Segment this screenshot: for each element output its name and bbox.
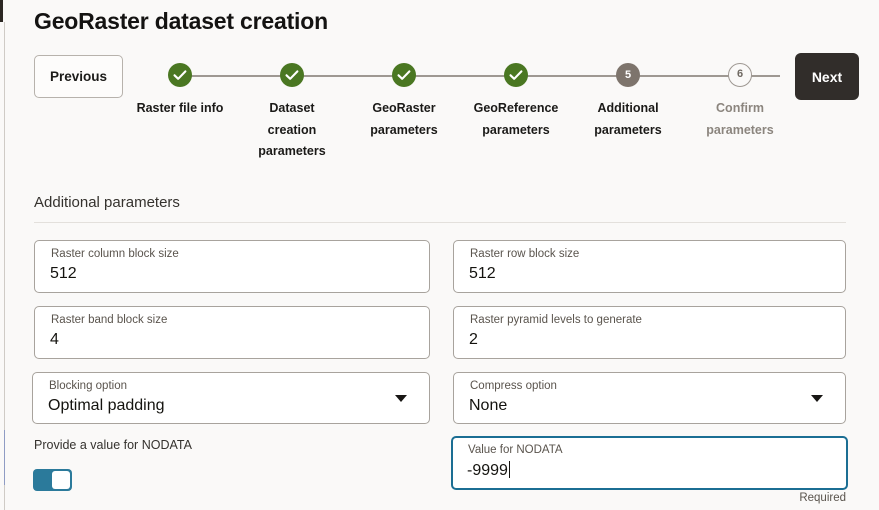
window-edge-left-accent [4, 430, 5, 485]
step-5-status-icon: 5 [616, 63, 640, 87]
step-6-status-icon: 6 [728, 63, 752, 87]
step-5-label: Additional parameters [572, 98, 684, 141]
raster-band-block-size-value: 4 [50, 331, 59, 349]
nodata-value-input[interactable]: -9999 [467, 461, 510, 480]
nodata-value-field[interactable]: Value for NODATA -9999 [451, 436, 848, 490]
raster-pyramid-levels-field[interactable]: Raster pyramid levels to generate 2 [453, 306, 846, 359]
chevron-down-icon[interactable] [395, 395, 407, 402]
compress-option-value: None [469, 397, 507, 415]
previous-button[interactable]: Previous [34, 55, 123, 98]
next-button[interactable]: Next [795, 53, 859, 100]
step-4-georeference-parameters[interactable]: GeoReference parameters [460, 60, 572, 141]
provide-nodata-toggle[interactable] [33, 469, 72, 491]
nodata-value-text: -9999 [467, 462, 508, 479]
raster-row-block-size-value: 512 [469, 265, 496, 283]
step-1-label: Raster file info [124, 98, 236, 120]
compress-option-select[interactable]: Compress option None [453, 372, 846, 424]
window-edge-top [0, 0, 3, 22]
nodata-toggle-label: Provide a value for NODATA [34, 438, 192, 452]
text-cursor [509, 461, 510, 478]
nodata-value-label: Value for NODATA [468, 444, 563, 456]
step-6-label: Confirm parameters [684, 98, 796, 141]
wizard-stepper: Raster file info Dataset creation parame… [140, 60, 780, 170]
raster-pyramid-levels-value: 2 [469, 331, 478, 349]
blocking-option-label: Blocking option [49, 380, 127, 392]
compress-option-label: Compress option [470, 380, 557, 392]
raster-pyramid-levels-label: Raster pyramid levels to generate [470, 314, 642, 326]
georaster-wizard-page: GeoRaster dataset creation Previous Next… [0, 0, 879, 510]
step-6-confirm-parameters[interactable]: 6 Confirm parameters [684, 60, 796, 141]
step-6-number: 6 [729, 64, 751, 85]
page-title: GeoRaster dataset creation [34, 8, 328, 35]
step-5-number: 5 [616, 63, 640, 87]
step-2-dataset-creation-parameters[interactable]: Dataset creation parameters [236, 60, 348, 163]
step-2-status-icon [280, 63, 304, 87]
blocking-option-select[interactable]: Blocking option Optimal padding [32, 372, 430, 424]
step-4-status-icon [504, 63, 528, 87]
raster-column-block-size-field[interactable]: Raster column block size 512 [34, 240, 430, 293]
blocking-option-value: Optimal padding [48, 397, 165, 415]
toggle-knob [52, 471, 70, 489]
step-3-label: GeoRaster parameters [348, 98, 460, 141]
step-4-label: GeoReference parameters [460, 98, 572, 141]
raster-band-block-size-label: Raster band block size [51, 314, 167, 326]
step-2-label: Dataset creation parameters [236, 98, 348, 163]
raster-row-block-size-label: Raster row block size [470, 248, 579, 260]
raster-band-block-size-field[interactable]: Raster band block size 4 [34, 306, 430, 359]
chevron-down-icon[interactable] [811, 395, 823, 402]
raster-column-block-size-value: 512 [50, 265, 77, 283]
step-1-status-icon [168, 63, 192, 87]
step-5-additional-parameters[interactable]: 5 Additional parameters [572, 60, 684, 141]
section-title: Additional parameters [34, 194, 180, 211]
raster-row-block-size-field[interactable]: Raster row block size 512 [453, 240, 846, 293]
step-1-raster-file-info[interactable]: Raster file info [124, 60, 236, 120]
section-divider [34, 222, 846, 223]
step-3-status-icon [392, 63, 416, 87]
nodata-required-helper: Required [799, 492, 846, 504]
raster-column-block-size-label: Raster column block size [51, 248, 179, 260]
step-3-georaster-parameters[interactable]: GeoRaster parameters [348, 60, 460, 141]
